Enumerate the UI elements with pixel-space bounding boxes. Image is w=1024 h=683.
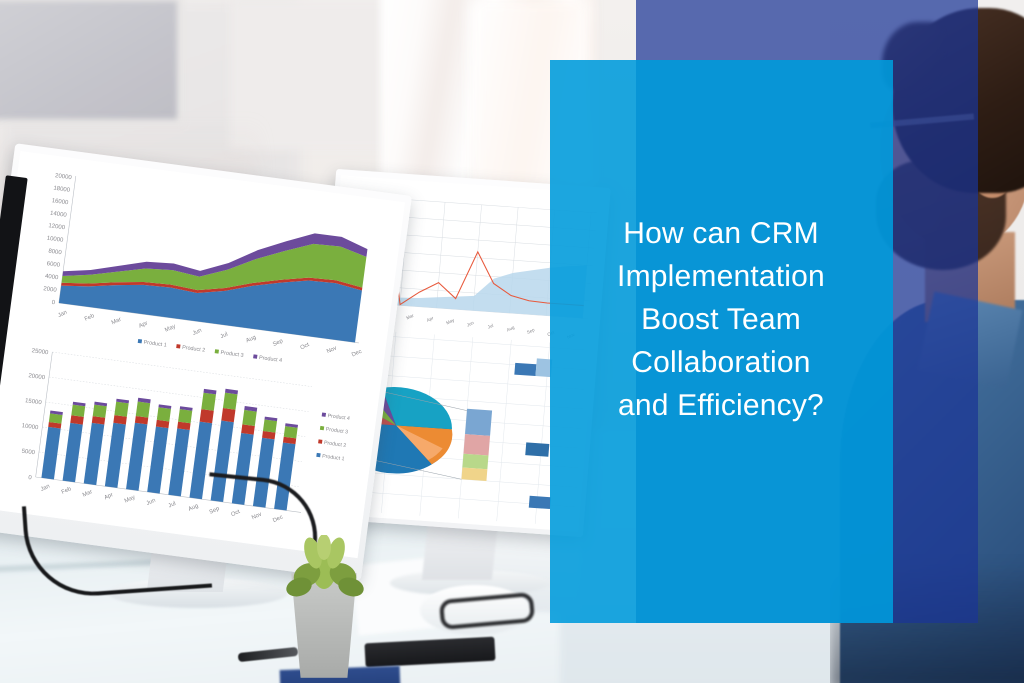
headline-line-2: Implementation [556, 255, 886, 298]
picture-frame [0, 0, 184, 126]
headline: How can CRM Implementation Boost Team Co… [556, 212, 886, 427]
headline-line-3: Boost Team [556, 298, 886, 341]
headline-line-5: and Efficiency? [556, 384, 886, 427]
screenshot-stage: 1200010000 80006000 40002000 0 Jan Feb M… [0, 0, 1024, 683]
succulent-plant [277, 535, 372, 597]
headline-line-1: How can CRM [556, 212, 886, 255]
headline-line-4: Collaboration [556, 341, 886, 384]
